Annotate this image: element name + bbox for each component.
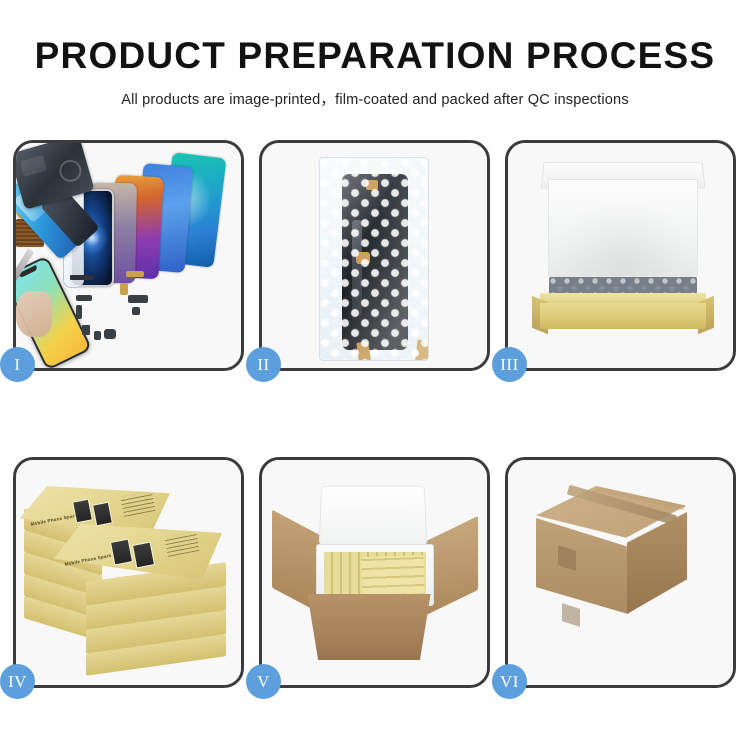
- page-title: PRODUCT PREPARATION PROCESS: [0, 37, 750, 76]
- small-part-3: [128, 295, 148, 303]
- flex-cable-gold-2: [120, 283, 128, 295]
- step-badge-2: II: [246, 347, 281, 382]
- step-image-4: Mobile Phone Spare Parts Mobile Phone Sp…: [16, 460, 241, 685]
- small-part-4: [132, 307, 140, 315]
- step-panel-5: V: [259, 457, 490, 688]
- step-badge-1: I: [0, 347, 35, 382]
- flex-bar-part: [70, 275, 94, 280]
- step-badge-6: VI: [492, 664, 527, 699]
- yellow-boxes-inside-2: [361, 555, 424, 595]
- foam-sheet: [548, 179, 698, 277]
- step-image-3: [508, 143, 733, 368]
- step-panel-6: VI: [505, 457, 736, 688]
- small-part-1: [76, 295, 92, 301]
- plastic-sheen: [320, 158, 428, 360]
- phone-parts-collage: [16, 143, 241, 368]
- header: PRODUCT PREPARATION PROCESS All products…: [0, 0, 750, 109]
- box-front-panel: [540, 303, 706, 329]
- step-image-1: [16, 143, 241, 368]
- speaker-part: [104, 329, 116, 339]
- step-panel-2: II: [259, 140, 490, 371]
- step-panel-1: I: [13, 140, 244, 371]
- carton-body: [302, 594, 436, 660]
- product-preparation-infographic: PRODUCT PREPARATION PROCESS All products…: [0, 0, 750, 750]
- step-image-6: [508, 460, 733, 685]
- foam-box-lid: [319, 486, 428, 546]
- small-part-6: [94, 331, 101, 340]
- step-badge-3: III: [492, 347, 527, 382]
- bubble-wrap-bag: [319, 157, 429, 361]
- small-part-5: [82, 325, 90, 335]
- flex-cable-gold-1: [126, 271, 144, 277]
- stacked-boxes: Mobile Phone Spare Parts Mobile Phone Sp…: [16, 460, 241, 685]
- step-panel-3: III: [505, 140, 736, 371]
- step-badge-5: V: [246, 664, 281, 699]
- page-subtitle: All products are image-printed，film-coat…: [0, 88, 750, 109]
- hand: [16, 291, 52, 337]
- process-steps-grid: I II: [13, 140, 737, 688]
- small-part-2: [76, 305, 82, 319]
- step-image-2: [262, 143, 487, 368]
- step-image-5: [262, 460, 487, 685]
- step-badge-4: IV: [0, 664, 35, 699]
- step-panel-4: Mobile Phone Spare Parts Mobile Phone Sp…: [13, 457, 244, 688]
- carton-tape-patch-2: [562, 603, 580, 627]
